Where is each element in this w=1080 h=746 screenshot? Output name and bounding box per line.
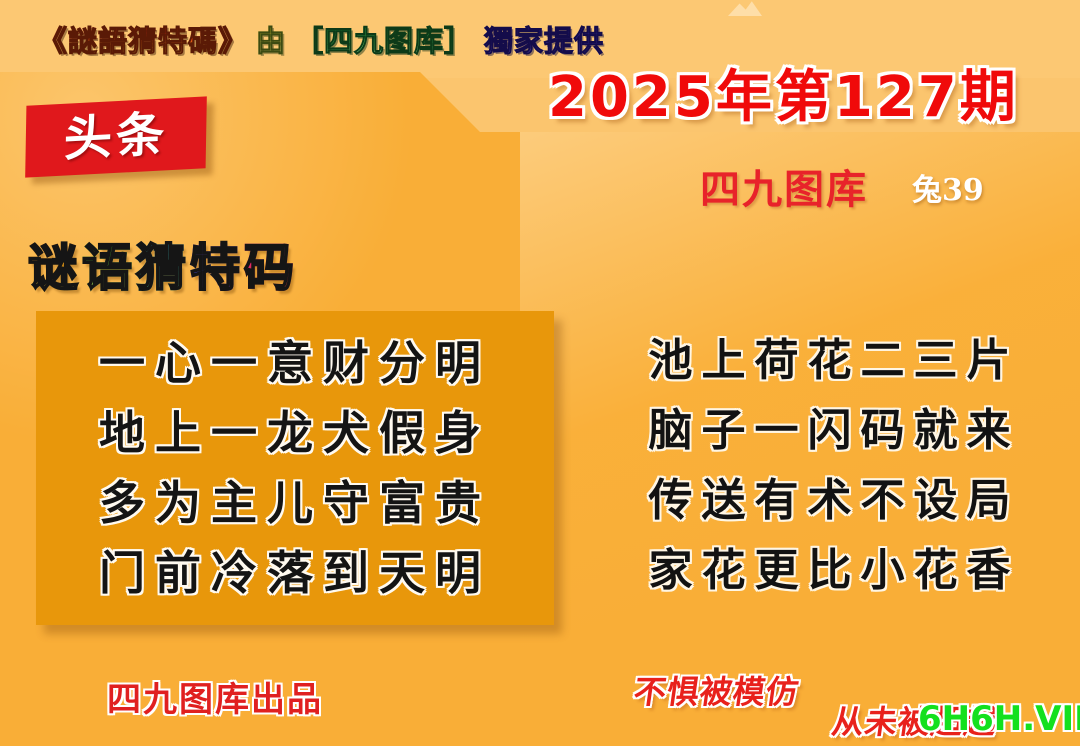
section-title-char-4: 特 (190, 243, 244, 293)
section-title-char-1: 谜 (28, 243, 82, 293)
headline-badge: 头条 (25, 96, 207, 177)
tagline-brand: ［四九图库］ (294, 27, 474, 56)
headline-badge-label: 头条 (63, 110, 168, 163)
riddle-line: 池上荷花二三片 (604, 326, 1064, 396)
poem-line: 一心一意财分明 (54, 328, 536, 398)
footer-slogan-primary: 不惧被模仿 (632, 676, 802, 708)
tagline-by: 由 (256, 27, 286, 56)
site-watermark: 6H6H.VIP (918, 702, 1080, 736)
section-title-char-3: 猜 (136, 243, 190, 293)
riddle-panel: 池上荷花二三片 脑子一闪码就来 传送有术不设局 家花更比小花香 (604, 326, 1064, 606)
footer-brand: 四九图库出品 (107, 683, 323, 717)
header-tagline: 《謎語猜特碼》由［四九图库］獨家提供 (38, 27, 604, 56)
issue-period: 2025年第127期 (548, 70, 1019, 126)
poem-line: 地上一龙犬假身 (54, 398, 536, 468)
tagline-title: 《謎語猜特碼》 (38, 27, 248, 56)
section-title-char-5: 码 (244, 243, 298, 293)
poem-line: 多为主儿守富贵 (54, 468, 536, 538)
section-title: 谜语猜特码 (28, 243, 298, 293)
poem-panel: 一心一意财分明 地上一龙犬假身 多为主儿守富贵 门前冷落到天明 (36, 311, 554, 625)
riddle-line: 家花更比小花香 (604, 536, 1064, 606)
issue-brand: 四九图库 (700, 170, 868, 210)
poster-canvas: 《謎語猜特碼》由［四九图库］獨家提供 头条 2025年第127期 四九图库 兔3… (0, 0, 1080, 746)
riddle-line: 脑子一闪码就来 (604, 396, 1064, 466)
riddle-line: 传送有术不设局 (604, 466, 1064, 536)
issue-zodiac: 兔39 (912, 176, 984, 206)
tagline-exclusive: 獨家提供 (484, 27, 604, 56)
poem-line: 门前冷落到天明 (54, 538, 536, 608)
section-title-char-2: 语 (82, 243, 136, 293)
